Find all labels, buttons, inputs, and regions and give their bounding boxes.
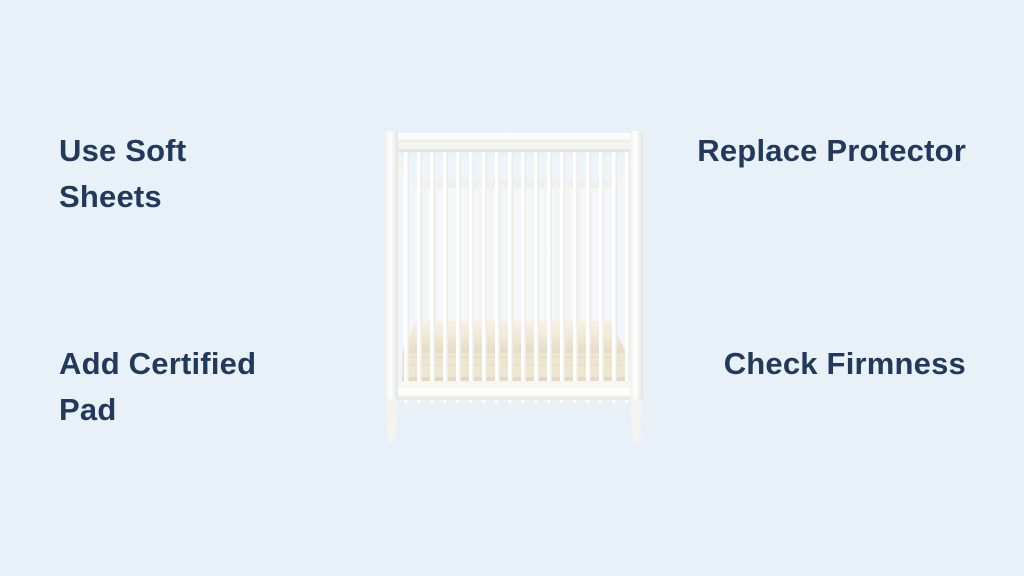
infographic-canvas: Use Soft Sheets Replace Protector Add Ce… [0,0,1024,576]
label-add-certified-pad: Add Certified Pad [59,341,359,433]
crib-illustration [376,125,652,447]
crib-mattress [402,321,626,384]
label-use-soft-sheets: Use Soft Sheets [59,128,359,220]
crib-top-rail [388,133,640,152]
crib-legs [386,399,642,443]
crib-bottom-rail [388,381,640,400]
baby-crib-photo [376,125,652,447]
